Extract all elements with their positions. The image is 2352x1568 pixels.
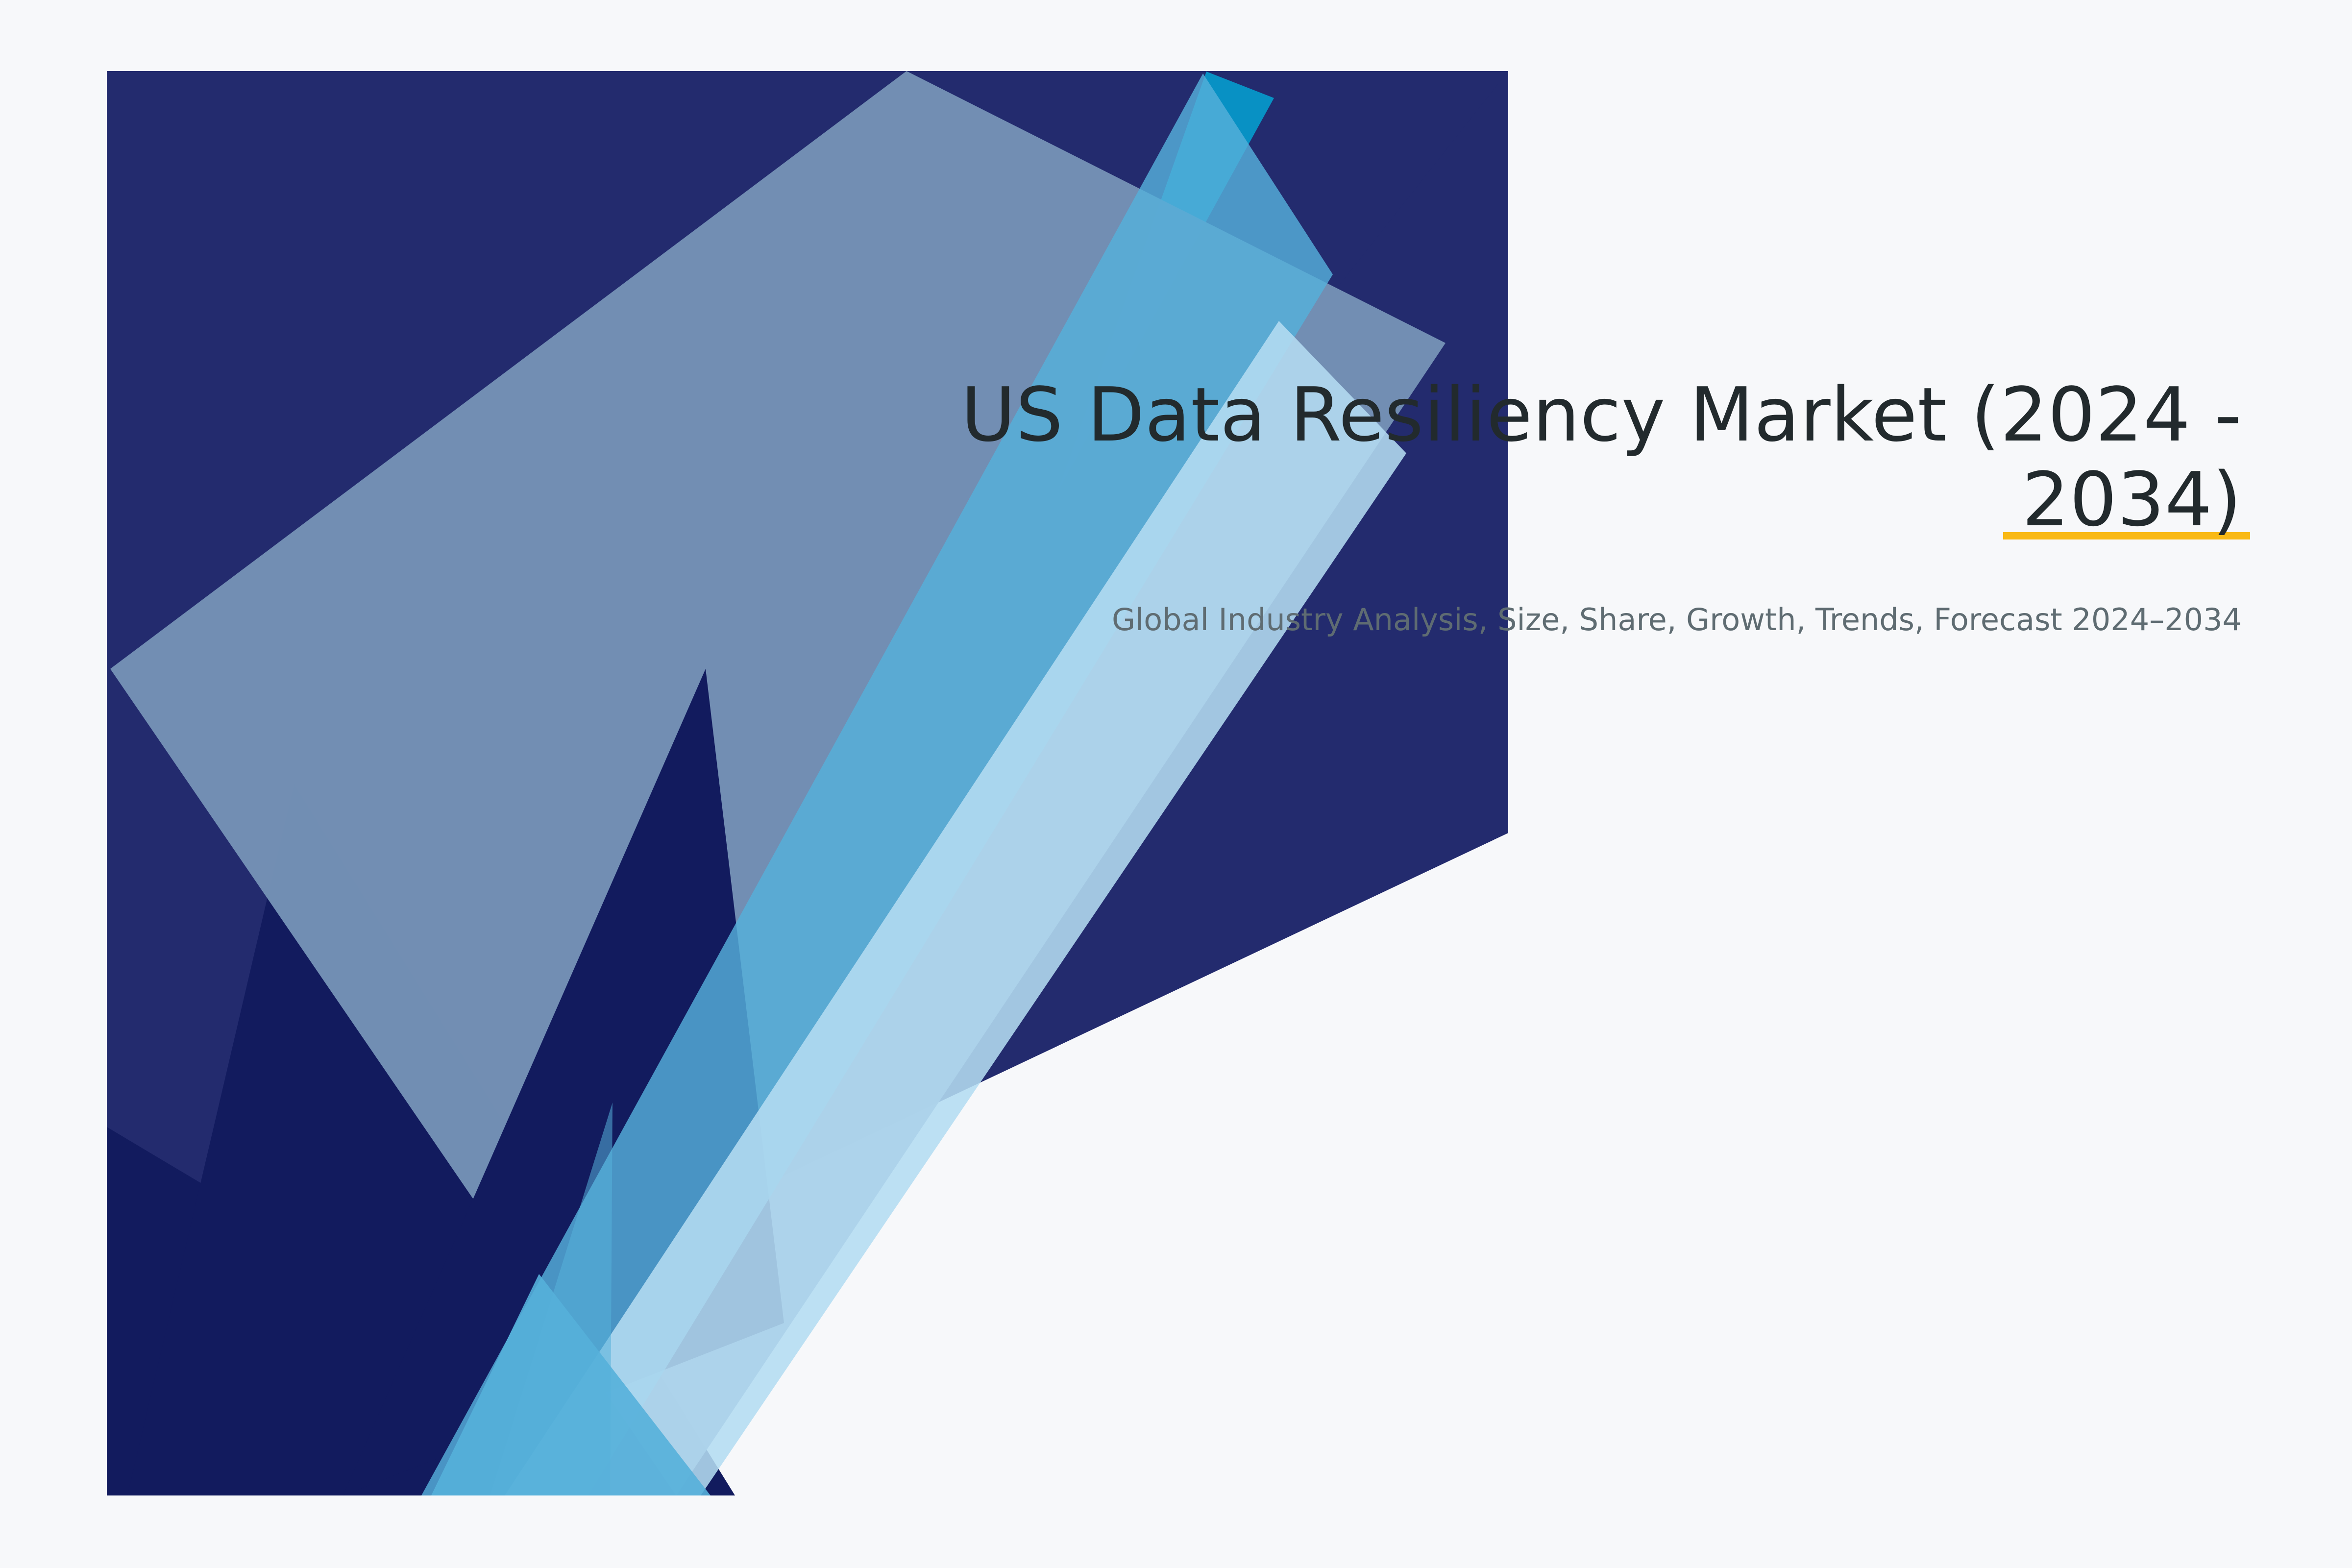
abstract-geometric-artwork	[0, 0, 2352, 1568]
title-wrap: US Data Resiliency Market (2024 - 2034)	[892, 372, 2242, 542]
page-title: US Data Resiliency Market (2024 - 2034)	[892, 372, 2242, 542]
report-cover: US Data Resiliency Market (2024 - 2034) …	[0, 0, 2352, 1568]
cover-text-block: US Data Resiliency Market (2024 - 2034) …	[892, 372, 2242, 640]
page-subtitle: Global Industry Analysis, Size, Share, G…	[892, 599, 2242, 640]
